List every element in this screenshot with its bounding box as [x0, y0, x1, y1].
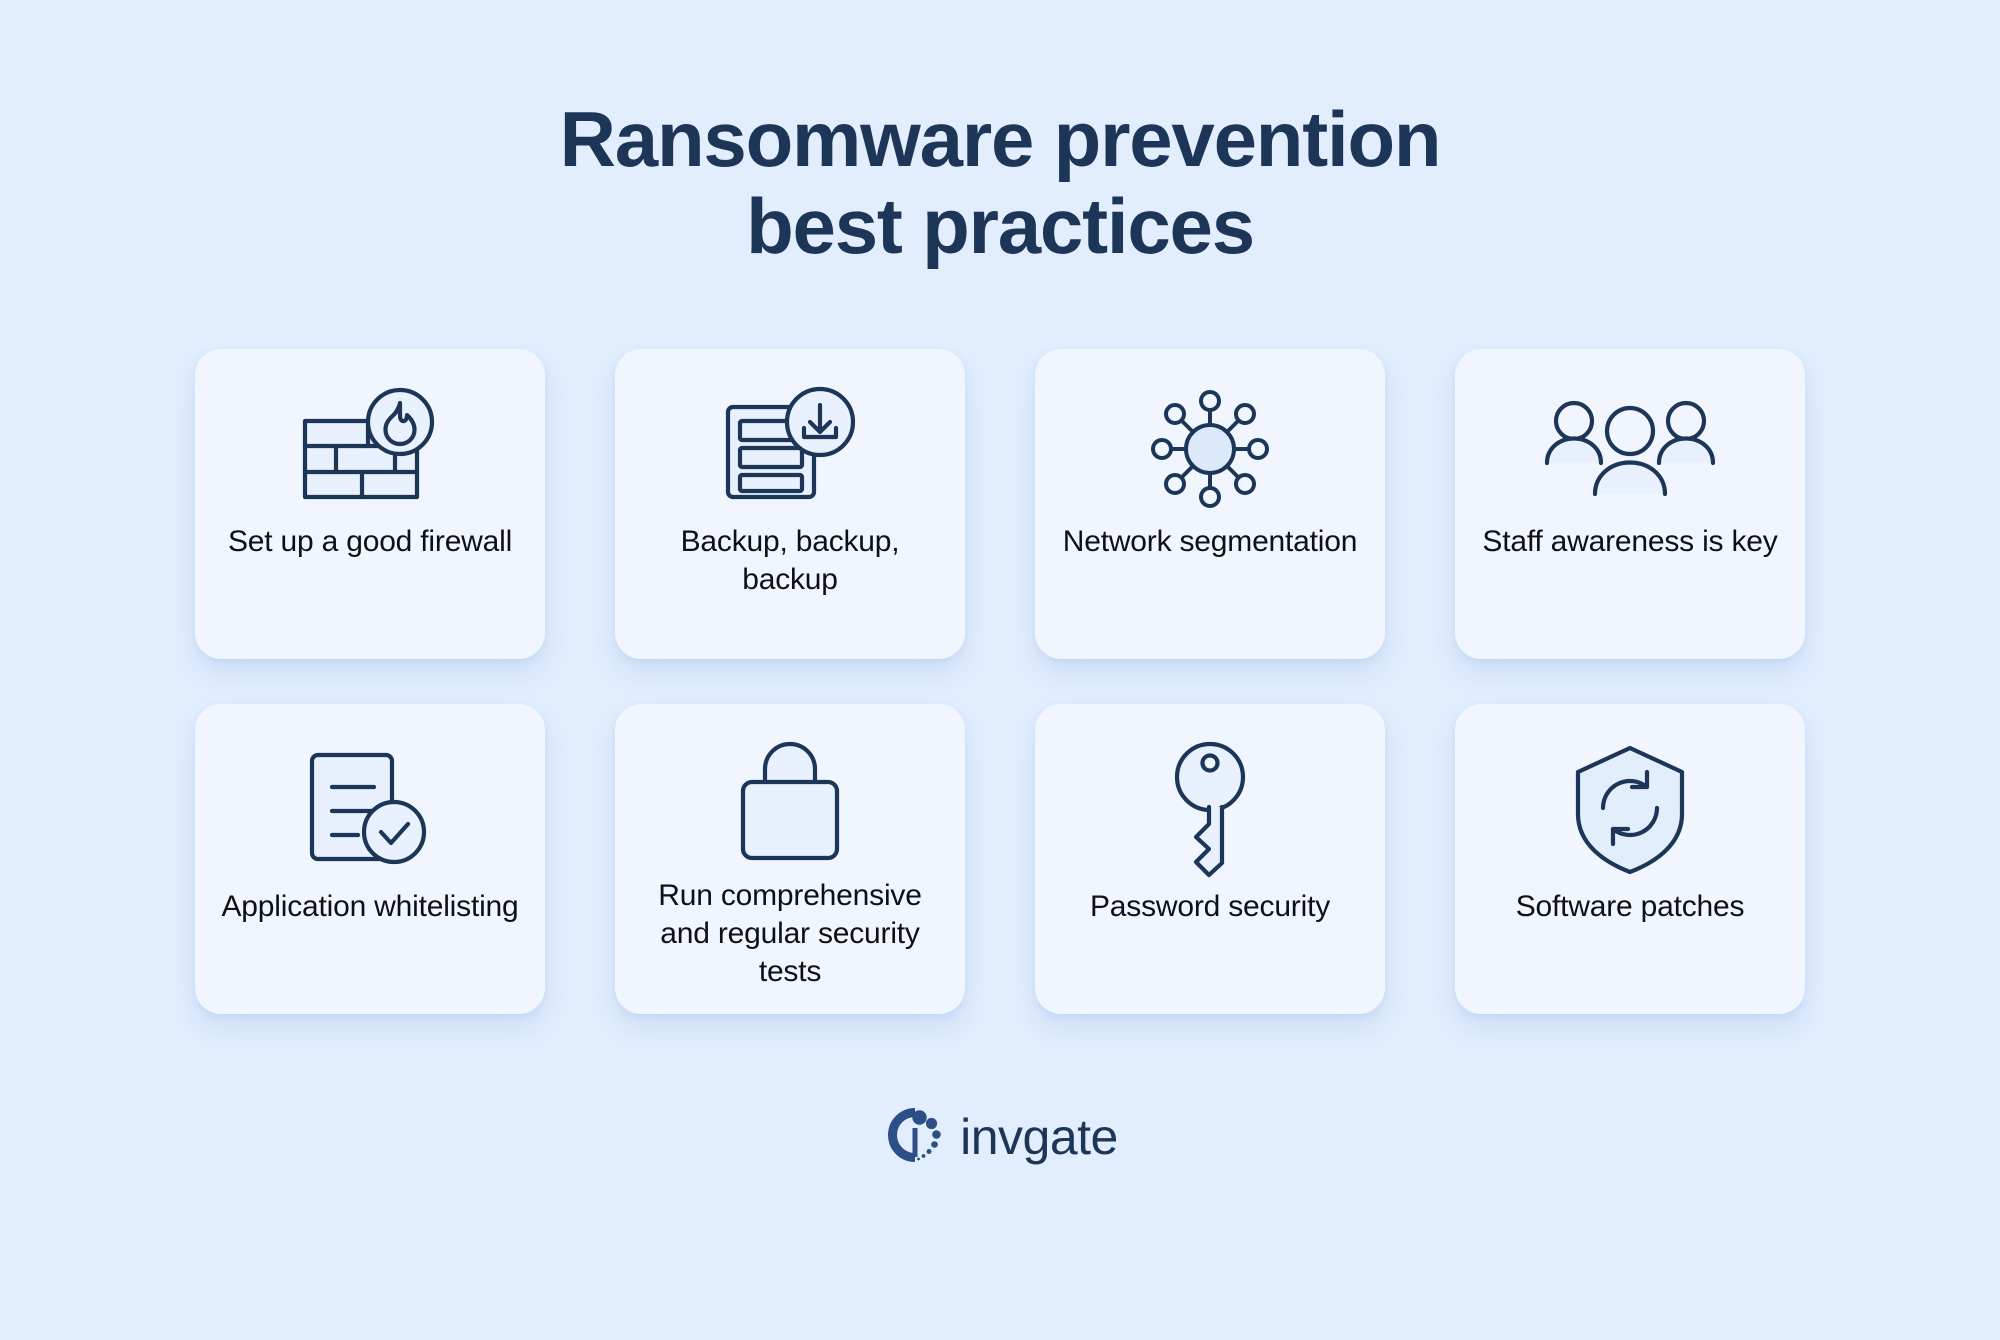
card-backup[interactable]: Backup, backup, backup [615, 349, 965, 659]
backup-server-download-icon [720, 383, 860, 515]
title-line-1: Ransomware prevention [0, 96, 2000, 183]
card-label: Staff awareness is key [1478, 523, 1781, 561]
shield-refresh-icon [1572, 738, 1688, 880]
card-password-security[interactable]: Password security [1035, 704, 1385, 1014]
best-practices-grid: Set up a good firewall Backup, backu [195, 349, 1805, 1014]
card-software-patches[interactable]: Software patches [1455, 704, 1805, 1014]
invgate-wordmark: invgate [960, 1112, 1118, 1162]
firewall-brickwall-flame-icon [300, 383, 440, 515]
card-label: Backup, backup, backup [633, 523, 947, 600]
padlock-icon [735, 738, 845, 869]
card-firewall[interactable]: Set up a good firewall [195, 349, 545, 659]
document-checkmark-icon [306, 738, 434, 880]
card-label: Run comprehensive and regular security t… [633, 877, 947, 992]
invgate-logomark-icon [882, 1106, 946, 1169]
staff-people-group-icon [1544, 383, 1716, 515]
card-security-tests[interactable]: Run comprehensive and regular security t… [615, 704, 965, 1014]
card-label: Password security [1086, 888, 1334, 926]
page-title: Ransomware prevention best practices [0, 96, 2000, 271]
card-staff-awareness[interactable]: Staff awareness is key [1455, 349, 1805, 659]
card-label: Set up a good firewall [224, 523, 516, 561]
card-label: Software patches [1512, 888, 1749, 926]
card-network-segmentation[interactable]: Network segmentation [1035, 349, 1385, 659]
title-line-2: best practices [0, 183, 2000, 270]
card-label: Network segmentation [1059, 523, 1361, 561]
card-application-whitelisting[interactable]: Application whitelisting [195, 704, 545, 1014]
key-icon [1164, 738, 1256, 880]
card-label: Application whitelisting [217, 888, 522, 926]
network-segmentation-nodes-icon [1140, 383, 1280, 515]
infographic-poster: Ransomware prevention best practices [0, 0, 2000, 1340]
brand-footer: invgate [882, 1106, 1118, 1169]
